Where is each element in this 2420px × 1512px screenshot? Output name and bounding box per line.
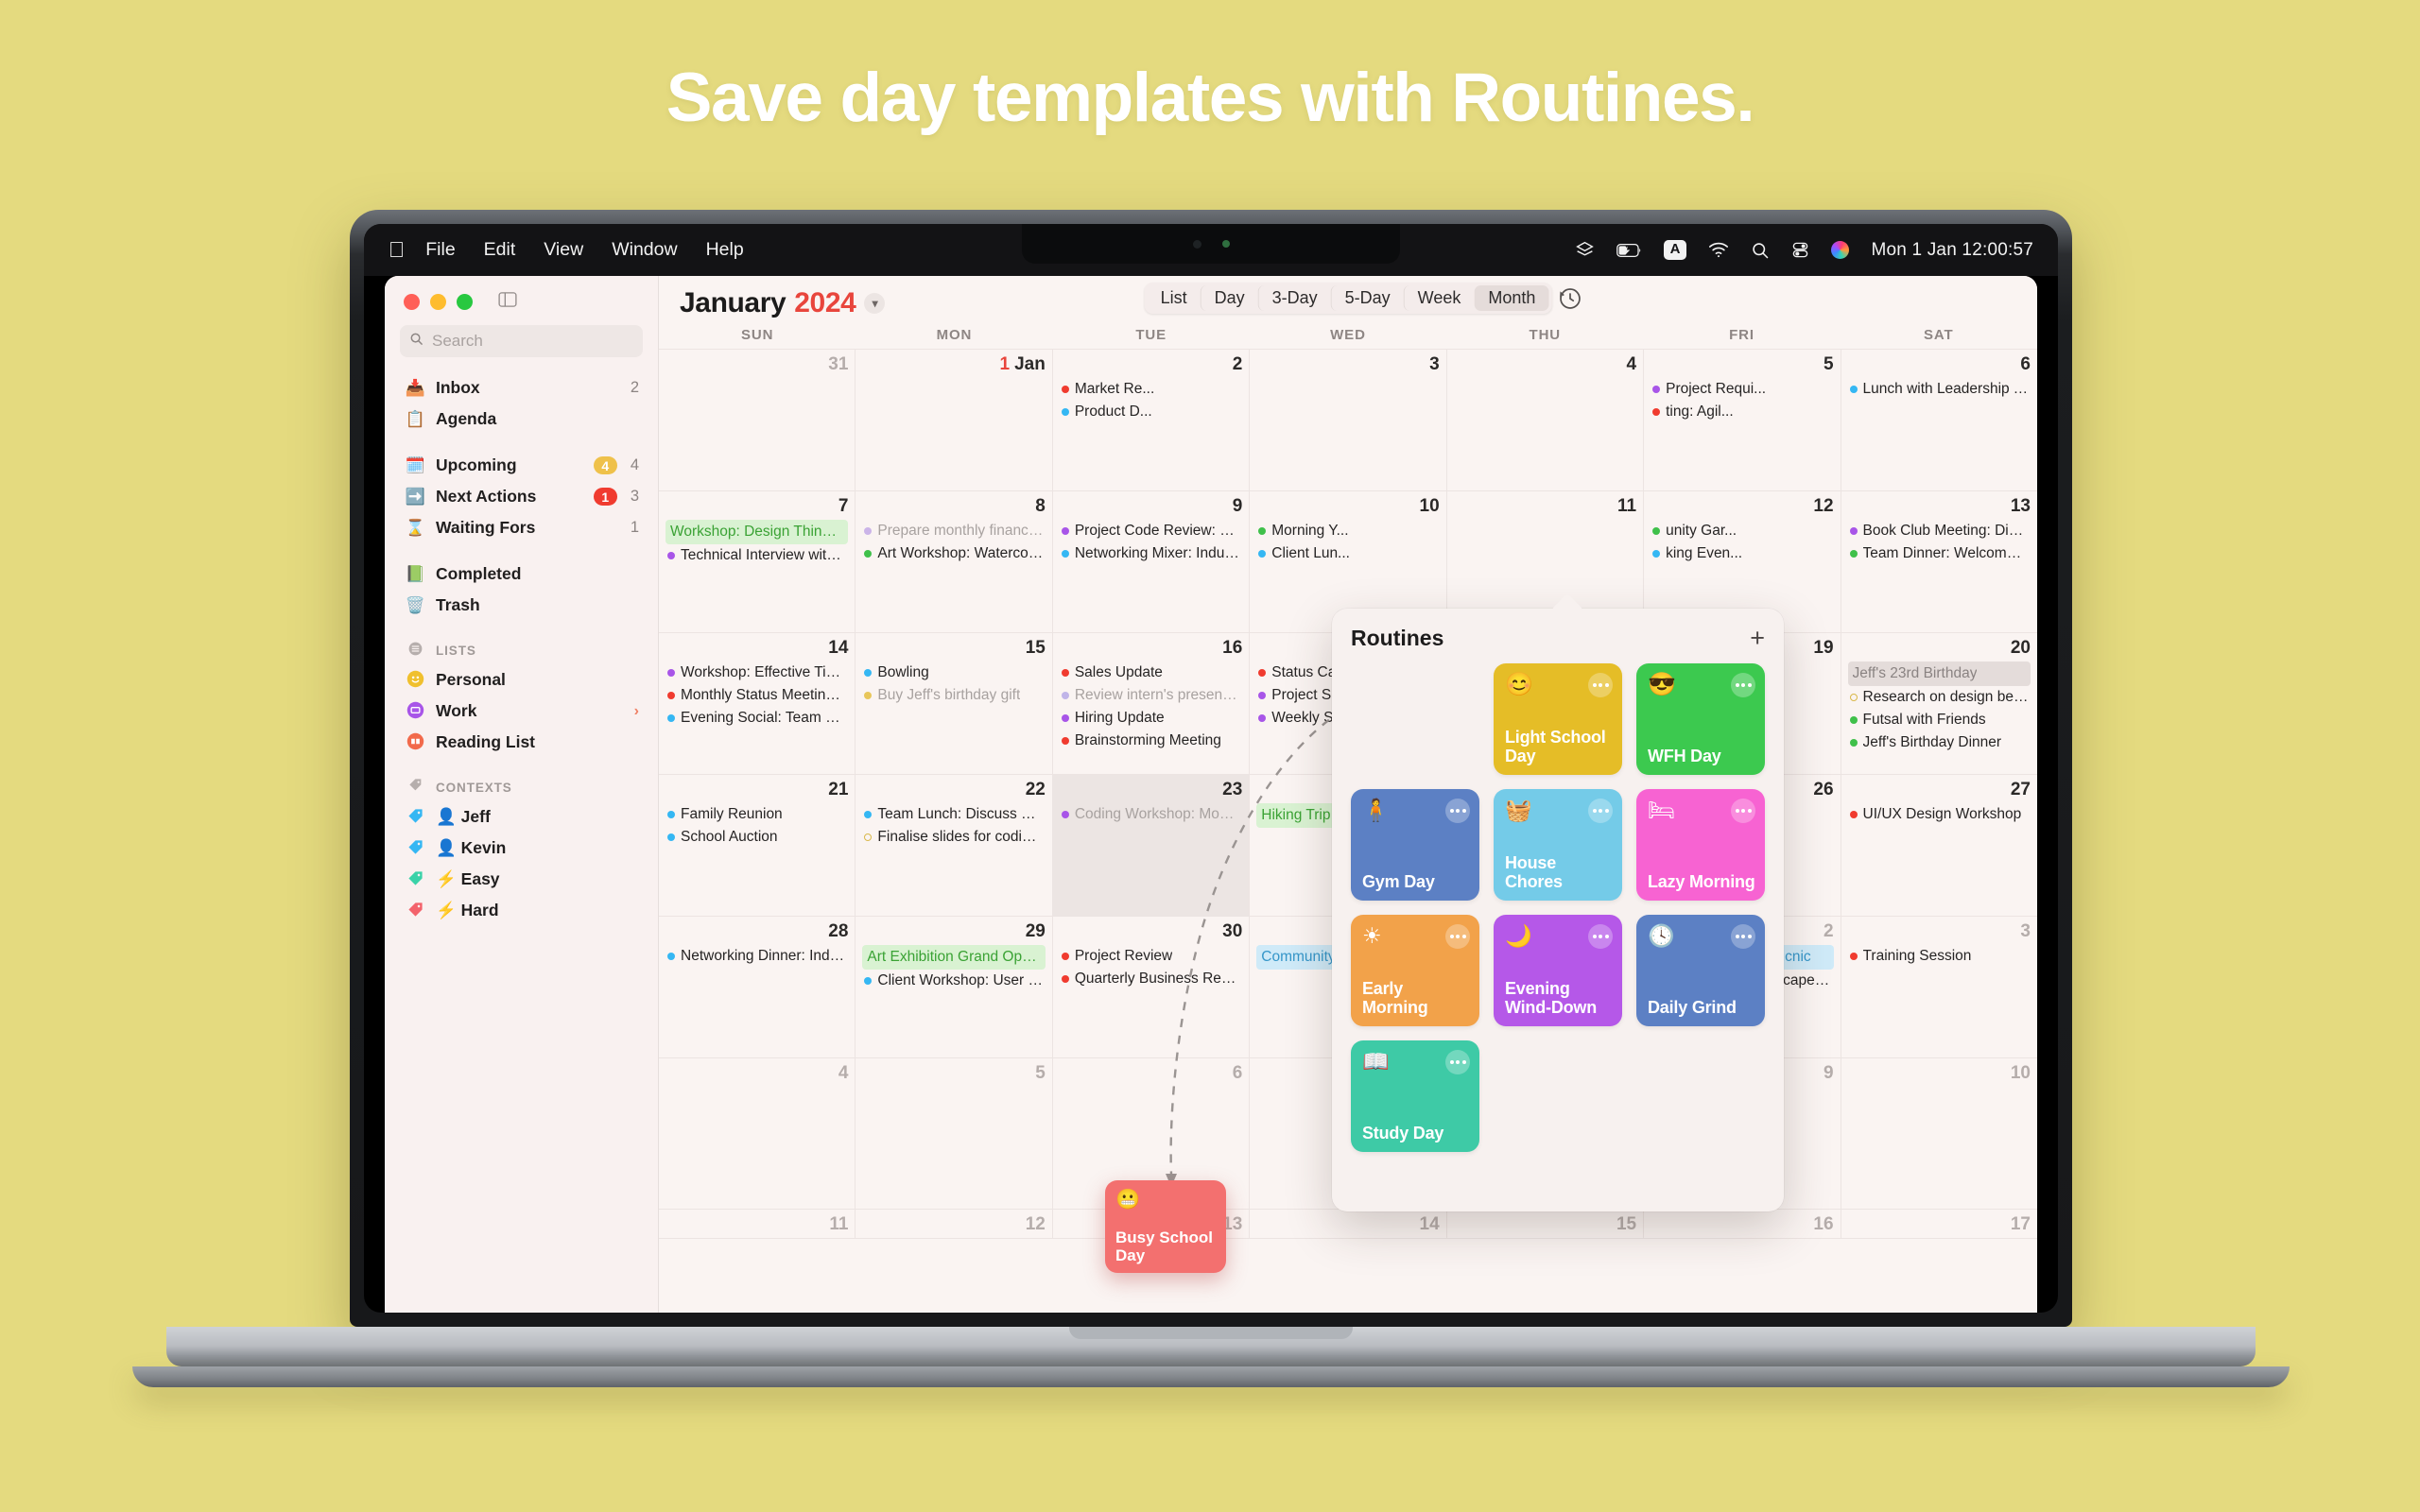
dow-wed: WED	[1250, 327, 1446, 343]
routine-card[interactable]: 😊Light School Day	[1494, 663, 1622, 775]
smiley-circle-icon	[404, 670, 427, 691]
status-badge: 1	[594, 488, 617, 506]
routine-more-options-icon[interactable]	[1445, 799, 1470, 823]
routines-title: Routines	[1351, 626, 1443, 651]
event-title: Project Requi...	[1666, 378, 1766, 401]
event-color-dot	[1062, 737, 1069, 745]
day-number: 20	[1848, 638, 2031, 659]
maximize-window-button[interactable]	[457, 294, 473, 310]
day-of-week-header: SUN MON TUE WED THU FRI SAT	[659, 327, 2037, 349]
tag-icon	[404, 839, 427, 858]
calendar-day-cell[interactable]: 28Networking Dinner: Industry...	[659, 917, 856, 1057]
calendar-day-cell[interactable]: 2Market Re...Product D...	[1053, 350, 1250, 490]
event-color-dot	[1062, 669, 1069, 677]
event-title: Monthly Status Meeting: Proj...	[681, 684, 846, 707]
view-segmented-control[interactable]: List Day 3-Day 5-Day Week Month	[1145, 283, 1552, 314]
calendar-event[interactable]: Morning Y...	[1256, 520, 1439, 542]
calendar-event[interactable]: Project Requi...	[1651, 378, 1833, 401]
calendar-event[interactable]: Product D...	[1060, 401, 1242, 423]
calendar-day-cell[interactable]: 3Training Session	[1841, 917, 2037, 1057]
calendar-day-cell[interactable]: 23Coding Workshop: Mobile Ap...	[1053, 775, 1250, 916]
calendar-day-cell[interactable]: 30Project ReviewQuarterly Business Revie…	[1053, 917, 1250, 1057]
event-title: Quarterly Business Review	[1075, 968, 1240, 990]
calendar-event[interactable]: Prepare monthly financial re...	[862, 520, 1045, 542]
page-headline: Save day templates with Routines.	[0, 59, 2420, 137]
add-routine-button[interactable]: +	[1750, 628, 1765, 649]
event-title: Evening Social: Team Game...	[681, 707, 846, 730]
event-color-dot	[1258, 550, 1266, 558]
sidebar-item-context-easy[interactable]: ⚡ Easy	[394, 864, 648, 895]
calendar-event[interactable]: Sales Update	[1060, 661, 1242, 684]
routine-more-options-icon[interactable]	[1445, 924, 1470, 949]
routines-popover-header: Routines +	[1351, 626, 1765, 651]
sidebar-item-label: Completed	[436, 564, 639, 584]
day-number: 4	[665, 1063, 848, 1084]
calendar-day-cell[interactable]: 5	[856, 1058, 1052, 1209]
day-number: 10	[1848, 1063, 2031, 1084]
event-title: unity Gar...	[1666, 520, 1737, 542]
toggle-sidebar-icon[interactable]	[498, 292, 517, 312]
calendar-week-row: 311Jan2Market Re...Product D...345Projec…	[659, 350, 2037, 491]
calendar-day-cell[interactable]: 9Project Code Review: QA Ses...Networkin…	[1053, 491, 1250, 632]
day-number: 12	[1651, 496, 1833, 517]
sidebar-divider	[394, 621, 648, 636]
event-color-dot	[1062, 811, 1069, 818]
calendar-event[interactable]: Family Reunion	[665, 803, 848, 826]
routine-card[interactable]: 🛏Lazy Morning	[1636, 789, 1765, 901]
day-number: 2	[1060, 354, 1242, 375]
event-color-dot	[1850, 550, 1858, 558]
sidebar-item-label: Reading List	[436, 732, 639, 752]
day-number: 3	[1848, 921, 2031, 942]
tab-month[interactable]: Month	[1474, 285, 1548, 311]
calendar-day-cell[interactable]: 17	[1841, 1210, 2037, 1238]
calendar-day-cell[interactable]: 4	[1447, 350, 1644, 490]
day-number: 1Jan	[862, 354, 1045, 375]
calendar-day-cell[interactable]: 12	[856, 1210, 1052, 1238]
day-number: 11	[1454, 496, 1636, 517]
event-title: Client Workshop: User Feedb...	[877, 970, 1043, 992]
tag-icon	[404, 870, 427, 889]
calendar-toolbar: January 2024 ▾ List Day 3-Day 5-Day Week…	[659, 276, 2037, 327]
event-color-dot	[1062, 975, 1069, 983]
calendar-event[interactable]: Project Review	[1060, 945, 1242, 968]
routine-card-placeholder	[1351, 663, 1479, 775]
laptop-foot	[132, 1366, 2290, 1387]
calendar-day-cell[interactable]: 31	[659, 350, 856, 490]
calendar-event[interactable]: Workshop: Effective Time Ma...	[665, 661, 848, 684]
menubar-item-window[interactable]: Window	[612, 239, 677, 261]
day-number: 13	[1848, 496, 2031, 517]
apple-logo-icon[interactable]: 	[389, 239, 405, 261]
screen-notch	[1022, 224, 1400, 264]
event-color-dot	[1850, 386, 1858, 393]
event-title: Market Re...	[1075, 378, 1154, 401]
calendar-day-cell[interactable]: 11	[659, 1210, 856, 1238]
status-badge: 4	[594, 456, 617, 474]
sidebar-item-label: 👤 Jeff	[436, 807, 639, 827]
routine-card[interactable]: 😎WFH Day	[1636, 663, 1765, 775]
event-title: Team Lunch: Discuss Market...	[877, 803, 1043, 826]
sidebar-nav: 📥 Inbox 2 📋 Agenda 🗓️ Upcoming	[385, 357, 658, 926]
routine-more-options-icon[interactable]	[1445, 1050, 1470, 1074]
event-title: Project Review	[1075, 945, 1172, 968]
calendar-day-cell[interactable]: 7Workshop: Design ThinkingTechnical Inte…	[659, 491, 856, 632]
keyboard-input-icon[interactable]: A	[1664, 240, 1687, 260]
tag-icon	[404, 902, 427, 920]
routine-more-options-icon[interactable]	[1588, 924, 1613, 949]
smiling-face-icon: 😊	[1505, 672, 1533, 697]
wifi-icon[interactable]	[1708, 242, 1729, 258]
sidebar-divider	[394, 435, 648, 450]
sidebar-item-context-hard[interactable]: ⚡ Hard	[394, 895, 648, 926]
day-number: 28	[665, 921, 848, 942]
sidebar-item-agenda[interactable]: 📋 Agenda	[394, 404, 648, 435]
sidebar-item-next-actions[interactable]: ➡️ Next Actions 1 3	[394, 481, 648, 512]
event-color-dot	[864, 811, 872, 818]
sidebar-item-context-jeff[interactable]: 👤 Jeff	[394, 801, 648, 833]
routine-card[interactable]: 🌙Evening Wind-Down	[1494, 915, 1622, 1026]
event-title: Hiking Trip	[1261, 804, 1330, 827]
day-number: 22	[862, 780, 1045, 800]
routine-card[interactable]: ☀Early Morning	[1351, 915, 1479, 1026]
day-number: 11	[665, 1214, 848, 1235]
sidebar-item-waiting-fors[interactable]: ⌛ Waiting Fors 1	[394, 512, 648, 543]
event-title: Team Dinner: Welcome New...	[1863, 542, 2029, 565]
day-number: 3	[1256, 354, 1439, 375]
calendar-event[interactable]: Networking Dinner: Industry...	[665, 945, 848, 968]
event-color-dot	[667, 552, 675, 559]
calendar-event[interactable]: Networking Mixer: Industry P...	[1060, 542, 1242, 565]
routines-grid: 😊Light School Day😎WFH Day🧍Gym Day🧺House …	[1351, 663, 1765, 1152]
calendar-event[interactable]: Team Dinner: Welcome New...	[1848, 542, 2031, 565]
sidebar-item-label: Waiting Fors	[436, 518, 623, 538]
sidebar-item-label: Personal	[436, 670, 639, 690]
event-color-dot	[667, 714, 675, 722]
event-title: Buy Jeff's birthday gift	[877, 684, 1020, 707]
tab-5-day[interactable]: 5-Day	[1331, 285, 1404, 311]
calendar-day-cell[interactable]: 13Book Club Meeting: Discuss '...Team Di…	[1841, 491, 2037, 632]
event-color-dot	[1850, 716, 1858, 724]
briefcase-circle-icon	[404, 701, 427, 722]
chevron-down-icon[interactable]: ▾	[864, 293, 885, 314]
calendar-event[interactable]: Coding Workshop: Mobile Ap...	[1060, 803, 1242, 826]
event-title: Brainstorming Meeting	[1075, 730, 1221, 752]
laptop-mockup:  Yata File Edit View Window Help A	[350, 210, 2072, 1325]
laptop-base-notch	[1069, 1327, 1353, 1339]
calendar-day-cell[interactable]: 1Jan	[856, 350, 1052, 490]
event-color-dot	[1850, 739, 1858, 747]
calendar-event[interactable]: Workshop: Design Thinking	[665, 520, 848, 544]
search-box[interactable]	[400, 325, 643, 357]
calendar-icon: 🗓️	[404, 457, 427, 473]
page-title: January 2024 ▾	[680, 287, 885, 319]
event-color-dot	[1850, 694, 1858, 701]
calendar-event[interactable]: Market Re...	[1060, 378, 1242, 401]
day-number: 5	[1651, 354, 1833, 375]
event-title: Client Lun...	[1271, 542, 1350, 565]
event-title: Project Code Review: QA Ses...	[1075, 520, 1240, 542]
bolt-icon: ⚡	[436, 901, 457, 919]
menubar-clock[interactable]: Mon 1 Jan 12:00:57	[1871, 240, 2033, 261]
event-color-dot	[1062, 714, 1069, 722]
calendar-day-cell[interactable]: 21Family ReunionSchool Auction	[659, 775, 856, 916]
calendar-event[interactable]: Art Exhibition Grand Opening	[862, 945, 1045, 970]
routine-name: Early Morning	[1362, 979, 1470, 1017]
menubar-item-edit[interactable]: Edit	[484, 239, 516, 261]
clipboard-icon: 📋	[404, 411, 427, 427]
calendar-event[interactable]: UI/UX Design Workshop	[1848, 803, 2031, 826]
calendar-day-cell[interactable]: 5Project Requi...ting: Agil...	[1644, 350, 1841, 490]
menubar-item-file[interactable]: File	[425, 239, 455, 261]
laptop-lid:  Yata File Edit View Window Help A	[350, 210, 2072, 1327]
dragged-routine-card[interactable]: 😬 Busy School Day	[1105, 1180, 1226, 1273]
calendar-day-cell[interactable]: 3	[1250, 350, 1446, 490]
menubar-item-help[interactable]: Help	[706, 239, 744, 261]
dow-sun: SUN	[659, 327, 856, 343]
sidebar-item-label: Work	[436, 701, 634, 721]
day-number: 30	[1060, 921, 1242, 942]
battery-charging-icon[interactable]	[1616, 243, 1642, 258]
calendar-event[interactable]: Futsal with Friends	[1848, 709, 2031, 731]
event-title: Bowling	[877, 661, 928, 684]
calendar-event[interactable]: Bowling	[862, 661, 1045, 684]
close-window-button[interactable]	[404, 294, 420, 310]
sidebar-item-count: 1	[631, 519, 639, 537]
sidebar-item-inbox[interactable]: 📥 Inbox 2	[394, 372, 648, 404]
tab-day[interactable]: Day	[1201, 285, 1258, 311]
routine-card[interactable]: 🧺House Chores	[1494, 789, 1622, 901]
routine-name: Lazy Morning	[1648, 872, 1755, 891]
calendar-event[interactable]: Client Workshop: User Feedb...	[862, 970, 1045, 992]
calendar-day-cell[interactable]: 10	[1841, 1058, 2037, 1209]
calendar-day-cell[interactable]: 20Jeff's 23rd BirthdayResearch on design…	[1841, 633, 2037, 774]
sidebar-item-count: 2	[631, 379, 639, 397]
routine-name: WFH Day	[1648, 747, 1755, 765]
search-input[interactable]	[432, 332, 633, 351]
calendar-event[interactable]: Training Session	[1848, 945, 2031, 968]
trash-icon: 🗑️	[404, 597, 427, 613]
grimacing-face-icon: 😬	[1115, 1189, 1140, 1211]
calendar-event[interactable]: Evening Social: Team Game...	[665, 707, 848, 730]
calendar-event[interactable]: School Auction	[665, 826, 848, 849]
sidebar-item-label: Next Actions	[436, 487, 594, 507]
event-color-dot	[1652, 527, 1660, 535]
minimize-window-button[interactable]	[430, 294, 446, 310]
event-color-dot	[1258, 692, 1266, 699]
calendar-event[interactable]: Art Workshop: Watercolor Te...	[862, 542, 1045, 565]
sidebar-section-lists: LISTS	[394, 636, 648, 664]
calendar-event[interactable]: Book Club Meeting: Discuss '...	[1848, 520, 2031, 542]
sunglasses-face-icon: 😎	[1648, 672, 1676, 697]
sidebar-item-label: Upcoming	[436, 455, 594, 475]
event-title: Jeff's Birthday Dinner	[1863, 731, 2002, 754]
day-number: 16	[1060, 638, 1242, 659]
calendar-event[interactable]: Research on design best pra...	[1848, 686, 2031, 709]
day-number: 4	[1454, 354, 1636, 375]
routine-name: House Chores	[1505, 853, 1613, 891]
event-title: Technical Interview with UX...	[681, 544, 846, 567]
calendar-month: January	[680, 287, 786, 319]
event-color-dot	[1652, 386, 1660, 393]
siri-icon[interactable]	[1831, 241, 1849, 259]
person-icon: 👤	[436, 838, 457, 857]
calendar-event[interactable]: Brainstorming Meeting	[1060, 730, 1242, 752]
calendar-event[interactable]: Jeff's 23rd Birthday	[1848, 661, 2031, 686]
dow-fri: FRI	[1643, 327, 1840, 343]
calendar-event[interactable]: Technical Interview with UX...	[665, 544, 848, 567]
routine-more-options-icon[interactable]	[1731, 673, 1755, 697]
routine-more-options-icon[interactable]	[1588, 799, 1613, 823]
event-title: UI/UX Design Workshop	[1863, 803, 2022, 826]
control-center-icon[interactable]	[1791, 241, 1809, 259]
event-color-dot	[1850, 811, 1858, 818]
routine-name: Study Day	[1362, 1124, 1470, 1143]
routines-popover: Routines + 😊Light School Day😎WFH Day🧍Gym…	[1332, 609, 1784, 1211]
routine-more-options-icon[interactable]	[1588, 673, 1613, 697]
routine-card[interactable]: 📖Study Day	[1351, 1040, 1479, 1152]
stack-icon[interactable]	[1575, 240, 1595, 260]
tab-3-day[interactable]: 3-Day	[1258, 285, 1331, 311]
dragged-routine-name: Busy School Day	[1115, 1228, 1217, 1264]
routine-card[interactable]: 🕓Daily Grind	[1636, 915, 1765, 1026]
calendar-day-cell[interactable]: 6Lunch with Leadership Team:...	[1841, 350, 2037, 490]
tab-week[interactable]: Week	[1404, 285, 1475, 311]
calendar-day-cell[interactable]: 27UI/UX Design Workshop	[1841, 775, 2037, 916]
routine-name: Daily Grind	[1648, 998, 1755, 1017]
menubar-item-view[interactable]: View	[544, 239, 583, 261]
sidebar-item-trash[interactable]: 🗑️ Trash	[394, 590, 648, 621]
month-label: Jan	[1014, 354, 1046, 374]
calendar-event[interactable]: Review intern's presentation...	[1060, 684, 1242, 707]
event-title: Futsal with Friends	[1863, 709, 1986, 731]
event-title: Coding Workshop: Mobile Ap...	[1075, 803, 1240, 826]
event-title: Product D...	[1075, 401, 1152, 423]
calendar-event[interactable]: Project Code Review: QA Ses...	[1060, 520, 1242, 542]
routine-name: Gym Day	[1362, 872, 1470, 891]
dow-mon: MON	[856, 327, 1052, 343]
event-title: Art Exhibition Grand Opening	[867, 946, 1040, 969]
sidebar-divider	[394, 543, 648, 558]
calendar-day-cell[interactable]: 16Sales UpdateReview intern's presentati…	[1053, 633, 1250, 774]
tag-section-icon	[404, 778, 427, 797]
sidebar-item-personal[interactable]: Personal	[394, 664, 648, 696]
calendar-day-cell[interactable]: 22Team Lunch: Discuss Market...Finalise …	[856, 775, 1052, 916]
day-number: 8	[862, 496, 1045, 517]
event-title: king Even...	[1666, 542, 1742, 565]
event-title: Hiring Update	[1075, 707, 1165, 730]
sidebar-divider	[394, 758, 648, 773]
calendar-day-cell[interactable]: 15	[1447, 1210, 1644, 1238]
event-color-dot	[667, 833, 675, 841]
day-number: 10	[1256, 496, 1439, 517]
event-title: Lunch with Leadership Team:...	[1863, 378, 2029, 401]
event-title: Review intern's presentation...	[1075, 684, 1240, 707]
sidebar-item-reading-list[interactable]: Reading List	[394, 727, 648, 758]
sidebar-item-upcoming[interactable]: 🗓️ Upcoming 4 4	[394, 450, 648, 481]
event-color-dot	[667, 953, 675, 960]
event-title: Art Workshop: Watercolor Te...	[877, 542, 1043, 565]
calendar-event[interactable]: king Even...	[1651, 542, 1833, 565]
routine-more-options-icon[interactable]	[1731, 924, 1755, 949]
day-number: 31	[665, 354, 848, 375]
event-color-dot	[864, 692, 872, 699]
day-number: 27	[1848, 780, 2031, 800]
calendar-event[interactable]: Jeff's Birthday Dinner	[1848, 731, 2031, 754]
calendar-event[interactable]: ting: Agil...	[1651, 401, 1833, 423]
calendar-day-cell[interactable]: 16	[1644, 1210, 1841, 1238]
inbox-icon: 📥	[404, 380, 427, 396]
day-number: 15	[1454, 1214, 1636, 1235]
event-color-dot	[1258, 714, 1266, 722]
sidebar-item-completed[interactable]: 📗 Completed	[394, 558, 648, 590]
tab-list[interactable]: List	[1148, 285, 1201, 311]
calendar-day-cell[interactable]: 4	[659, 1058, 856, 1209]
sidebar-item-context-kevin[interactable]: 👤 Kevin	[394, 833, 648, 864]
calendar-event[interactable]: Lunch with Leadership Team:...	[1848, 378, 2031, 401]
person-icon: 👤	[436, 807, 457, 826]
event-color-dot	[864, 669, 872, 677]
routine-card[interactable]: 🧍Gym Day	[1351, 789, 1479, 901]
day-number: 21	[665, 780, 848, 800]
calendar-event[interactable]: Team Lunch: Discuss Market...	[862, 803, 1045, 826]
section-title: CONTEXTS	[436, 781, 512, 795]
event-color-dot	[1258, 527, 1266, 535]
event-color-dot	[1062, 953, 1069, 960]
event-color-dot	[1062, 692, 1069, 699]
sidebar-item-work[interactable]: Work ›	[394, 696, 648, 727]
dow-tue: TUE	[1053, 327, 1250, 343]
routine-name: Light School Day	[1505, 728, 1613, 765]
routine-more-options-icon[interactable]	[1731, 799, 1755, 823]
calendar-day-cell[interactable]: 8Prepare monthly financial re...Art Work…	[856, 491, 1052, 632]
day-number: 6	[1848, 354, 2031, 375]
search-icon[interactable]	[1751, 241, 1770, 260]
chevron-right-icon[interactable]: ›	[634, 703, 639, 720]
sidebar-item-label: Trash	[436, 595, 639, 615]
app-window: 📥 Inbox 2 📋 Agenda 🗓️ Upcoming	[385, 276, 2037, 1313]
event-title: Prepare monthly financial re...	[877, 520, 1043, 542]
day-number: 6	[1060, 1063, 1242, 1084]
sidebar-item-label: Agenda	[436, 409, 631, 429]
calendar-event[interactable]: Hiring Update	[1060, 707, 1242, 730]
day-number: 15	[862, 638, 1045, 659]
calendar-day-cell[interactable]: 15BowlingBuy Jeff's birthday gift	[856, 633, 1052, 774]
calendar-event[interactable]: Quarterly Business Review	[1060, 968, 1242, 990]
event-color-dot	[864, 833, 872, 841]
calendar-day-cell[interactable]: 14	[1250, 1210, 1446, 1238]
calendar-day-cell[interactable]: 29Art Exhibition Grand OpeningClient Wor…	[856, 917, 1052, 1057]
dow-thu: THU	[1446, 327, 1643, 343]
sidebar-item-label: ⚡ Easy	[436, 869, 639, 889]
window-controls	[385, 276, 658, 312]
search-icon	[409, 332, 423, 351]
calendar-event[interactable]: Buy Jeff's birthday gift	[862, 684, 1045, 707]
day-number: 16	[1651, 1214, 1833, 1235]
calendar-event[interactable]: Monthly Status Meeting: Proj...	[665, 684, 848, 707]
sidebar-item-label: 👤 Kevin	[436, 838, 639, 858]
calendar-event[interactable]: unity Gar...	[1651, 520, 1833, 542]
event-color-dot	[864, 550, 872, 558]
calendar-event[interactable]: Client Lun...	[1256, 542, 1439, 565]
calendar-day-cell[interactable]: 14Workshop: Effective Time Ma...Monthly …	[659, 633, 856, 774]
camera-led-icon	[1222, 240, 1230, 248]
calendar-event[interactable]: Finalise slides for coding wor...	[862, 826, 1045, 849]
arrow-right-icon: ➡️	[404, 489, 427, 505]
routines-button[interactable]	[1558, 286, 1582, 311]
calendar-year: 2024	[794, 287, 856, 319]
book-circle-icon	[404, 732, 427, 753]
